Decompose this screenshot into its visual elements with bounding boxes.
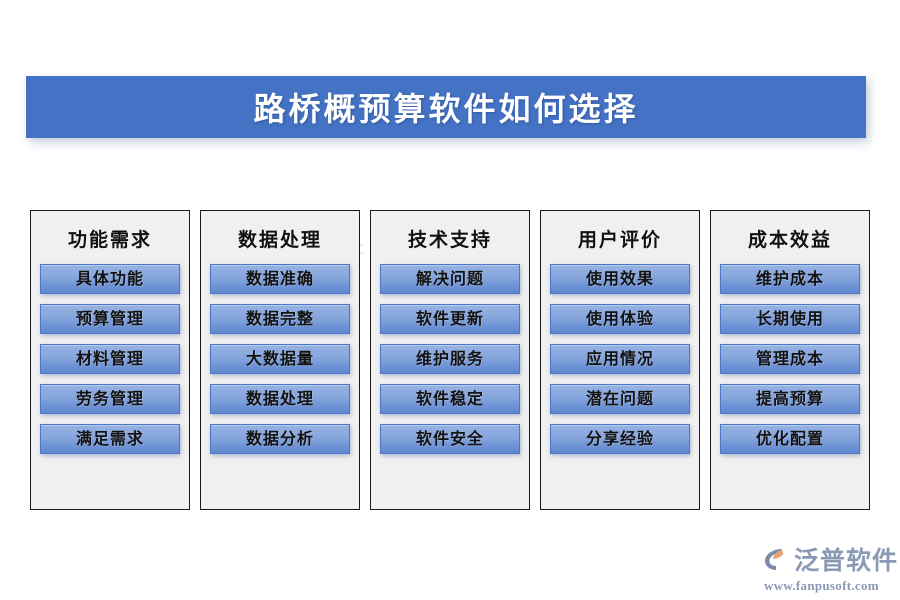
column-item-list: 解决问题 软件更新 维护服务 软件稳定 软件安全 — [380, 264, 520, 454]
list-item[interactable]: 分享经验 — [550, 424, 690, 454]
brand-name: 泛普软件 — [794, 541, 898, 577]
category-column-4[interactable]: 用户评价 使用效果 使用体验 应用情况 潜在问题 分享经验 — [540, 210, 700, 510]
page-title: 路桥概预算软件如何选择 — [253, 84, 638, 130]
list-item[interactable]: 软件更新 — [380, 304, 520, 334]
column-item-list: 数据准确 数据完整 大数据量 数据处理 数据分析 — [210, 264, 350, 454]
title-banner: 路桥概预算软件如何选择 — [26, 76, 866, 138]
list-item[interactable]: 解决问题 — [380, 264, 520, 294]
list-item[interactable]: 维护成本 — [720, 264, 860, 294]
list-item[interactable]: 数据完整 — [210, 304, 350, 334]
column-header: 功能需求 — [68, 225, 152, 252]
column-header: 用户评价 — [578, 225, 662, 252]
list-item[interactable]: 大数据量 — [210, 344, 350, 374]
list-item[interactable]: 具体功能 — [40, 264, 180, 294]
category-columns: 功能需求 具体功能 预算管理 材料管理 劳务管理 满足需求 数据处理 数据准确 … — [30, 210, 870, 510]
list-item[interactable]: 数据处理 — [210, 384, 350, 414]
column-item-list: 具体功能 预算管理 材料管理 劳务管理 满足需求 — [40, 264, 180, 454]
list-item[interactable]: 材料管理 — [40, 344, 180, 374]
column-header: 数据处理 — [238, 225, 322, 252]
list-item[interactable]: 劳务管理 — [40, 384, 180, 414]
list-item[interactable]: 满足需求 — [40, 424, 180, 454]
list-item[interactable]: 使用效果 — [550, 264, 690, 294]
brand-url: www.fanpusoft.com — [764, 578, 879, 594]
list-item[interactable]: 维护服务 — [380, 344, 520, 374]
category-column-5[interactable]: 成本效益 维护成本 长期使用 管理成本 提高预算 优化配置 — [710, 210, 870, 510]
list-item[interactable]: 预算管理 — [40, 304, 180, 334]
column-item-list: 维护成本 长期使用 管理成本 提高预算 优化配置 — [720, 264, 860, 454]
category-column-1[interactable]: 功能需求 具体功能 预算管理 材料管理 劳务管理 满足需求 — [30, 210, 190, 510]
column-header: 成本效益 — [748, 225, 832, 252]
list-item[interactable]: 软件稳定 — [380, 384, 520, 414]
list-item[interactable]: 管理成本 — [720, 344, 860, 374]
brand-logo-row: 泛普软件 — [762, 541, 898, 577]
column-item-list: 使用效果 使用体验 应用情况 潜在问题 分享经验 — [550, 264, 690, 454]
brand-logo: 泛普软件 www.fanpusoft.com — [762, 541, 898, 594]
column-header: 技术支持 — [408, 225, 492, 252]
list-item[interactable]: 使用体验 — [550, 304, 690, 334]
list-item[interactable]: 数据分析 — [210, 424, 350, 454]
category-column-2[interactable]: 数据处理 数据准确 数据完整 大数据量 数据处理 数据分析 — [200, 210, 360, 510]
category-column-3[interactable]: 技术支持 解决问题 软件更新 维护服务 软件稳定 软件安全 — [370, 210, 530, 510]
fanpu-logo-icon — [762, 545, 790, 573]
slide-canvas: 泛普软件 www.fanpusoft.com 路桥概预算软件如何选择 功能需求 … — [0, 0, 900, 600]
list-item[interactable]: 软件安全 — [380, 424, 520, 454]
list-item[interactable]: 优化配置 — [720, 424, 860, 454]
list-item[interactable]: 应用情况 — [550, 344, 690, 374]
list-item[interactable]: 数据准确 — [210, 264, 350, 294]
list-item[interactable]: 潜在问题 — [550, 384, 690, 414]
list-item[interactable]: 长期使用 — [720, 304, 860, 334]
list-item[interactable]: 提高预算 — [720, 384, 860, 414]
